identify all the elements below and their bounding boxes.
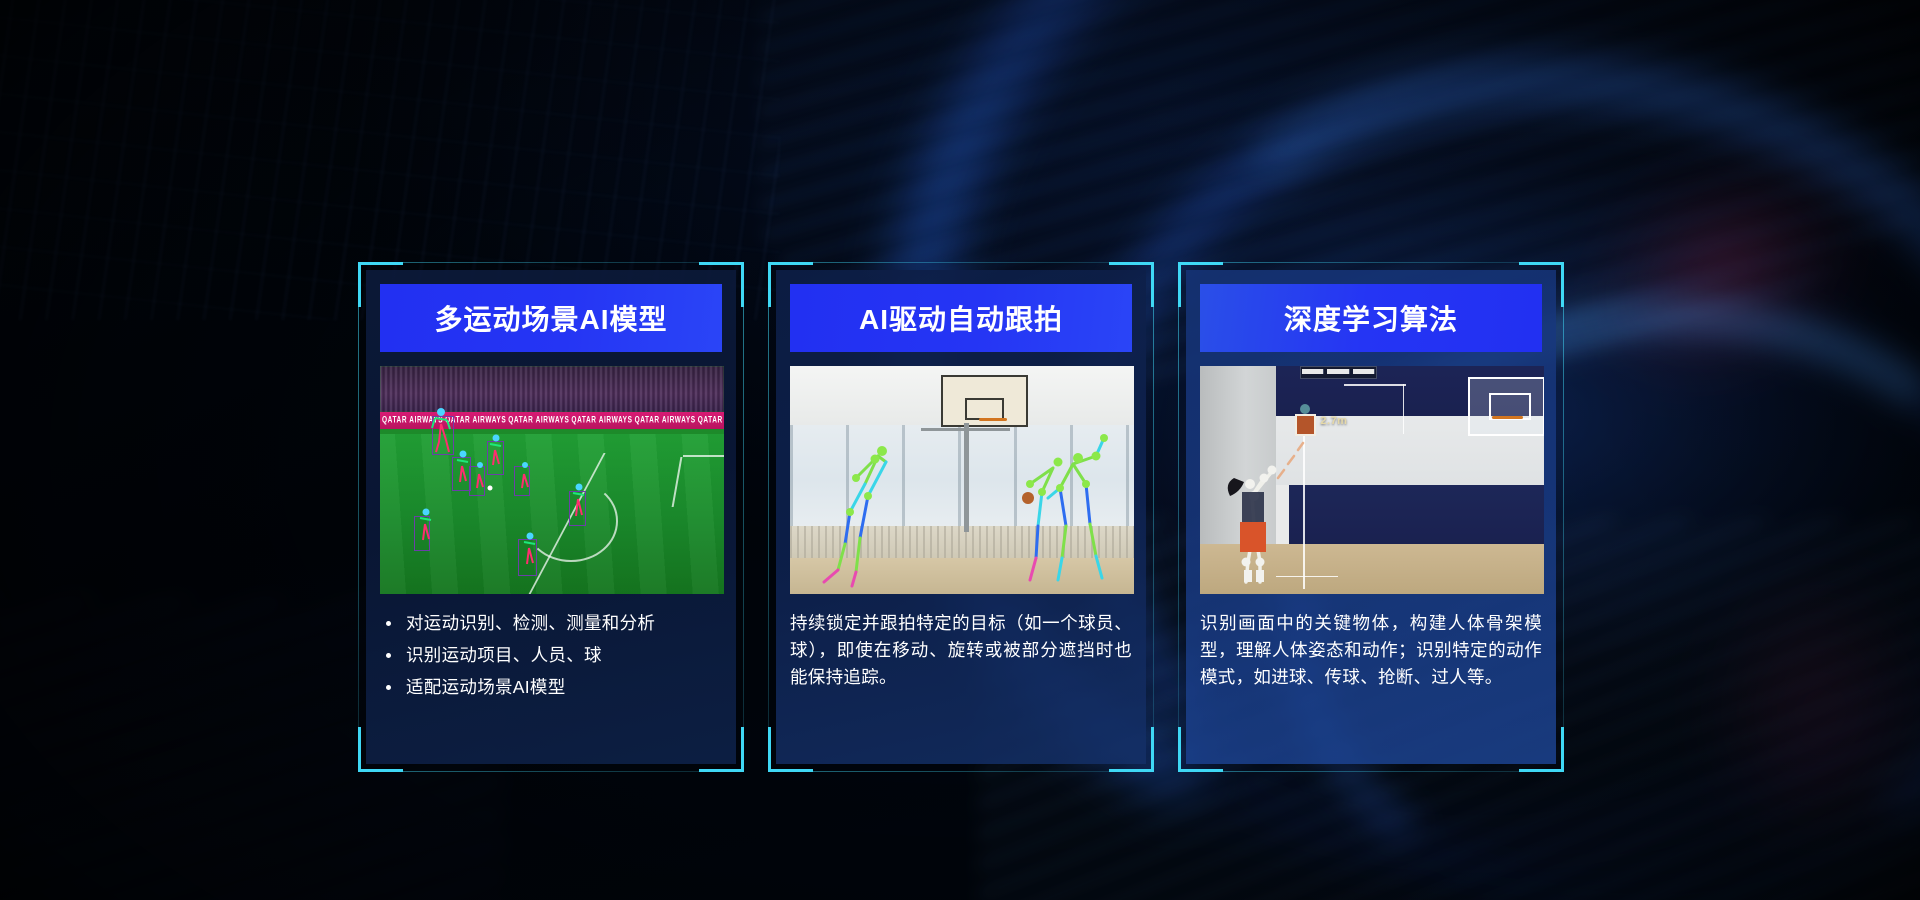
feature-paragraph: 持续锁定并跟拍特定的目标（如一个球员、球），即使在移动、旋转或被部分遮挡时也能保… [790,610,1132,691]
frame-edge-bottom [1220,771,1522,772]
feature-card-ai-auto-tracking[interactable]: AI驱动自动跟拍 [768,262,1154,772]
background-warm-glow-1 [1525,93,1920,446]
list-item: 适配运动场景AI模型 [380,674,722,701]
corner-bracket-bottom-left-icon [768,727,813,772]
feature-card-multi-sport-ai-model[interactable]: 多运动场景AI模型 QATAR AIRWAYS QATAR AIRWAYS QA… [358,262,744,772]
card-description: 识别画面中的关键物体，构建人体骨架模型，理解人体姿态和动作；识别特定的动作模式，… [1200,610,1542,691]
pose-skeleton-overlay [380,366,724,594]
frame-edge-top [810,262,1112,263]
card-title: 多运动场景AI模型 [434,298,667,338]
corner-bracket-bottom-left-icon [358,727,403,772]
frame-edge-right [1563,304,1564,730]
poster-stage: 多运动场景AI模型 QATAR AIRWAYS QATAR AIRWAYS QA… [0,0,1920,900]
frame-edge-top [1220,262,1522,263]
frame-edge-right [1153,304,1154,730]
card-description: 持续锁定并跟拍特定的目标（如一个球员、球），即使在移动、旋转或被部分遮挡时也能保… [790,610,1132,691]
card-title: 深度学习算法 [1284,298,1458,338]
pose-skeleton-overlay [790,366,1134,594]
ball-trajectory-and-pose [1200,366,1544,594]
feature-paragraph: 识别画面中的关键物体，构建人体骨架模型，理解人体姿态和动作；识别特定的动作模式，… [1200,610,1542,691]
card-header: AI驱动自动跟拍 [790,284,1132,352]
card-header: 深度学习算法 [1200,284,1542,352]
frame-edge-left [358,304,359,730]
card-media-gym-pose-tracking [790,366,1134,594]
frame-edge-bottom [400,771,702,772]
card-description: 对运动识别、检测、测量和分析 识别运动项目、人员、球 适配运动场景AI模型 [380,610,722,706]
list-item: 识别运动项目、人员、球 [380,642,722,669]
corner-bracket-bottom-right-icon [699,727,744,772]
court-image: 2.7m [1200,366,1544,594]
feature-card-row: 多运动场景AI模型 QATAR AIRWAYS QATAR AIRWAYS QA… [358,262,1566,772]
card-body: 多运动场景AI模型 QATAR AIRWAYS QATAR AIRWAYS QA… [366,270,736,764]
frame-edge-right [743,304,744,730]
corner-bracket-top-right-icon [699,262,744,307]
frame-edge-left [768,304,769,730]
list-item: 对运动识别、检测、测量和分析 [380,610,722,637]
frame-edge-bottom [810,771,1112,772]
card-media-court-shot-analysis: 2.7m [1200,366,1544,594]
card-body: AI驱动自动跟拍 [776,270,1146,764]
frame-edge-top [400,262,702,263]
corner-bracket-bottom-right-icon [1109,727,1154,772]
corner-bracket-top-left-icon [358,262,403,307]
background-warm-glow-3 [1700,560,1920,860]
corner-bracket-top-right-icon [1519,262,1564,307]
corner-bracket-bottom-right-icon [1519,727,1564,772]
card-body: 深度学习算法 [1186,270,1556,764]
feature-card-deep-learning-algorithm[interactable]: 深度学习算法 [1178,262,1564,772]
soccer-pitch-image: QATAR AIRWAYS QATAR AIRWAYS QATAR AIRWAY… [380,366,724,594]
card-header: 多运动场景AI模型 [380,284,722,352]
frame-edge-left [1178,304,1179,730]
corner-bracket-top-left-icon [768,262,813,307]
gym-image [790,366,1134,594]
card-media-soccer-detection: QATAR AIRWAYS QATAR AIRWAYS QATAR AIRWAY… [380,366,724,594]
corner-bracket-bottom-left-icon [1178,727,1223,772]
card-title: AI驱动自动跟拍 [859,298,1063,338]
corner-bracket-top-right-icon [1109,262,1154,307]
corner-bracket-top-left-icon [1178,262,1223,307]
feature-bullet-list: 对运动识别、检测、测量和分析 识别运动项目、人员、球 适配运动场景AI模型 [380,610,722,701]
